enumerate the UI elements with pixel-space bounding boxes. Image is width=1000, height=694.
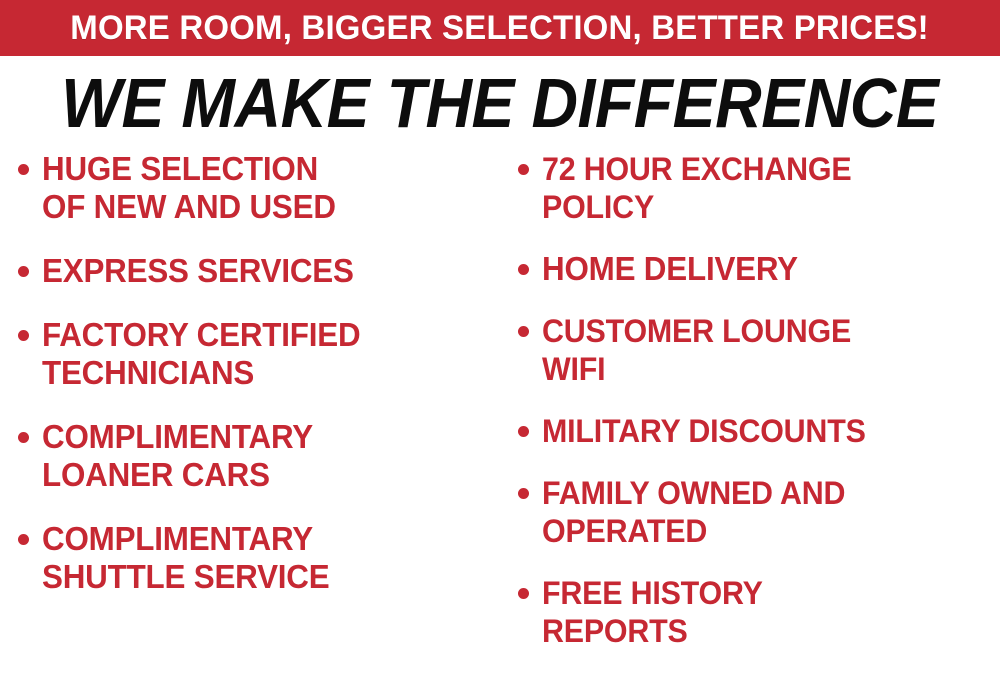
list-item-label: HOME DELIVERY	[542, 250, 977, 288]
list-item: MILITARY DISCOUNTS	[518, 412, 1000, 450]
bullet-dot-icon	[18, 330, 29, 341]
bullet-dot-icon	[18, 432, 29, 443]
list-item: COMPLIMENTARY LOANER CARS	[18, 418, 498, 494]
features-column-right: 72 HOUR EXCHANGE POLICY HOME DELIVERY CU…	[518, 150, 1000, 674]
list-item: FAMILY OWNED AND OPERATED	[518, 474, 1000, 550]
list-item: HOME DELIVERY	[518, 250, 1000, 288]
list-item: EXPRESS SERVICES	[18, 252, 498, 290]
list-item-label: CUSTOMER LOUNGE WIFI	[542, 312, 977, 388]
headline-text: WE MAKE THE DIFFERENCE	[61, 68, 938, 138]
list-item-label: COMPLIMENTARY LOANER CARS	[42, 418, 475, 494]
top-banner: MORE ROOM, BIGGER SELECTION, BETTER PRIC…	[0, 0, 1000, 56]
list-item: HUGE SELECTION OF NEW AND USED	[18, 150, 498, 226]
features-column-left: HUGE SELECTION OF NEW AND USED EXPRESS S…	[18, 150, 498, 622]
list-item: FACTORY CERTIFIED TECHNICIANS	[18, 316, 498, 392]
banner-headline-text: MORE ROOM, BIGGER SELECTION, BETTER PRIC…	[71, 11, 930, 45]
list-item-label: HUGE SELECTION OF NEW AND USED	[42, 150, 475, 226]
list-item-label: MILITARY DISCOUNTS	[542, 412, 977, 450]
bullet-dot-icon	[18, 266, 29, 277]
bullet-dot-icon	[518, 164, 529, 175]
bullet-dot-icon	[18, 534, 29, 545]
main-headline: WE MAKE THE DIFFERENCE	[0, 62, 1000, 144]
list-item: CUSTOMER LOUNGE WIFI	[518, 312, 1000, 388]
list-item: 72 HOUR EXCHANGE POLICY	[518, 150, 1000, 226]
list-item-label: FACTORY CERTIFIED TECHNICIANS	[42, 316, 475, 392]
bullet-dot-icon	[18, 164, 29, 175]
list-item-label: 72 HOUR EXCHANGE POLICY	[542, 150, 977, 226]
list-item: COMPLIMENTARY SHUTTLE SERVICE	[18, 520, 498, 596]
features-columns: HUGE SELECTION OF NEW AND USED EXPRESS S…	[0, 150, 1000, 694]
list-item: FREE HISTORY REPORTS	[518, 574, 1000, 650]
list-item-label: COMPLIMENTARY SHUTTLE SERVICE	[42, 520, 475, 596]
bullet-dot-icon	[518, 426, 529, 437]
bullet-dot-icon	[518, 588, 529, 599]
list-item-label: FREE HISTORY REPORTS	[542, 574, 977, 650]
bullet-dot-icon	[518, 326, 529, 337]
bullet-dot-icon	[518, 488, 529, 499]
promotional-poster: MORE ROOM, BIGGER SELECTION, BETTER PRIC…	[0, 0, 1000, 694]
list-item-label: FAMILY OWNED AND OPERATED	[542, 474, 977, 550]
list-item-label: EXPRESS SERVICES	[42, 252, 475, 290]
bullet-dot-icon	[518, 264, 529, 275]
